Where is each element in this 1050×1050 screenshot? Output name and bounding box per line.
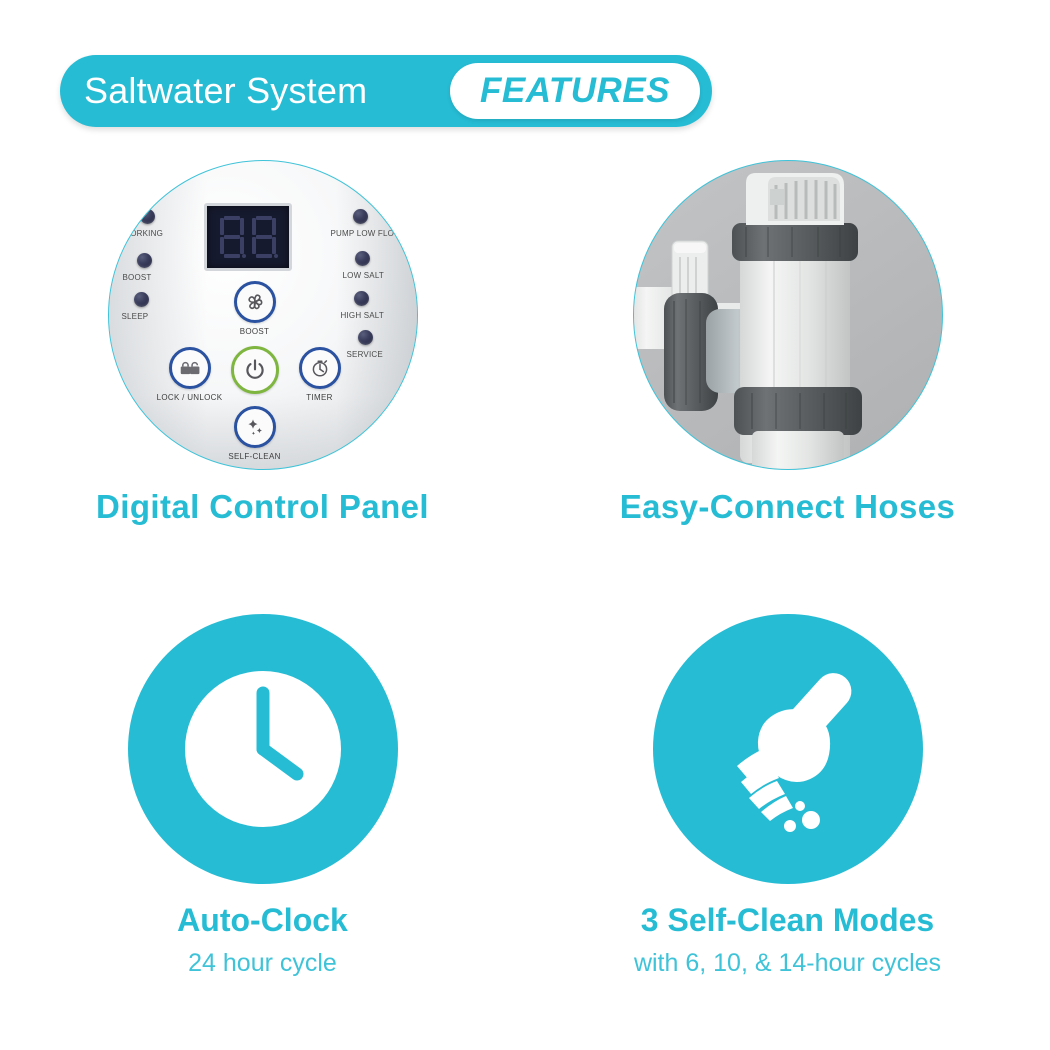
rear-vent-cap bbox=[672, 241, 708, 299]
led-label-working: WORKING bbox=[123, 229, 164, 238]
padlock-icon bbox=[177, 358, 203, 378]
led-label-boost: BOOST bbox=[123, 273, 152, 282]
auto-clock-icon-circle bbox=[128, 614, 398, 884]
feature-digital-control-panel: WORKING BOOST SLEEP PUMP LOW FLOW LOW SA… bbox=[0, 160, 525, 526]
lcd-digit-2 bbox=[251, 216, 277, 258]
bottom-outlet-pipe bbox=[752, 431, 844, 470]
led-high-salt bbox=[354, 291, 369, 306]
hose-connector-photo bbox=[633, 160, 943, 470]
led-pump-low-flow bbox=[353, 209, 368, 224]
led-boost bbox=[137, 253, 152, 268]
feature-row-top: WORKING BOOST SLEEP PUMP LOW FLOW LOW SA… bbox=[0, 160, 1050, 526]
led-service bbox=[358, 330, 373, 345]
led-working bbox=[140, 209, 155, 224]
feature-grid: WORKING BOOST SLEEP PUMP LOW FLOW LOW SA… bbox=[0, 160, 1050, 978]
stopwatch-icon bbox=[308, 356, 332, 380]
lock-unlock-button[interactable] bbox=[169, 347, 211, 389]
led-label-pump-low-flow: PUMP LOW FLOW bbox=[331, 229, 402, 238]
led-sleep bbox=[134, 292, 149, 307]
upper-threaded-collar bbox=[732, 223, 858, 261]
led-label-high-salt: HIGH SALT bbox=[341, 311, 384, 320]
swirl-icon bbox=[243, 290, 267, 314]
control-panel-photo: WORKING BOOST SLEEP PUMP LOW FLOW LOW SA… bbox=[108, 160, 418, 470]
control-panel-media: WORKING BOOST SLEEP PUMP LOW FLOW LOW SA… bbox=[108, 160, 418, 470]
led-label-service: SERVICE bbox=[347, 350, 383, 359]
lcd-display bbox=[204, 203, 292, 271]
boost-button-label: BOOST bbox=[234, 327, 276, 336]
features-badge-label: FEATURES bbox=[480, 71, 670, 111]
lcd-digit-1 bbox=[219, 216, 245, 258]
slotted-strainer-cap bbox=[746, 173, 844, 225]
hose-connector-illustration bbox=[634, 161, 943, 470]
hose-media bbox=[633, 160, 943, 470]
timer-button-label: TIMER bbox=[295, 393, 345, 402]
lock-unlock-button-label: LOCK / UNLOCK bbox=[139, 393, 241, 402]
feature-title-self-clean-modes: 3 Self-Clean Modes bbox=[641, 902, 934, 939]
broom-icon bbox=[693, 654, 883, 844]
feature-easy-connect-hoses: Easy-Connect Hoses bbox=[525, 160, 1050, 526]
page-title: Saltwater System bbox=[84, 70, 367, 112]
feature-row-bottom: Auto-Clock 24 hour cycle bbox=[0, 596, 1050, 978]
clock-icon bbox=[168, 654, 358, 844]
lower-threaded-collar bbox=[734, 387, 862, 435]
feature-self-clean-modes: 3 Self-Clean Modes with 6, 10, & 14-hour… bbox=[525, 596, 1050, 978]
power-button[interactable] bbox=[231, 346, 279, 394]
led-label-sleep: SLEEP bbox=[122, 312, 149, 321]
led-low-salt bbox=[355, 251, 370, 266]
power-icon bbox=[242, 357, 268, 383]
led-label-low-salt: LOW SALT bbox=[343, 271, 384, 280]
self-clean-button-label: SELF-CLEAN bbox=[221, 452, 289, 461]
self-clean-icon-circle bbox=[653, 614, 923, 884]
self-clean-button[interactable] bbox=[234, 406, 276, 448]
feature-title-easy-connect-hoses: Easy-Connect Hoses bbox=[620, 488, 955, 526]
timer-button[interactable] bbox=[299, 347, 341, 389]
boost-button[interactable] bbox=[234, 281, 276, 323]
sparkle-icon bbox=[243, 415, 267, 439]
feature-title-auto-clock: Auto-Clock bbox=[177, 902, 348, 939]
feature-subtitle-auto-clock: 24 hour cycle bbox=[188, 949, 337, 978]
feature-auto-clock: Auto-Clock 24 hour cycle bbox=[0, 596, 525, 978]
feature-title-digital-control-panel: Digital Control Panel bbox=[96, 488, 429, 526]
features-badge: FEATURES bbox=[450, 63, 700, 119]
feature-subtitle-self-clean-modes: with 6, 10, & 14-hour cycles bbox=[634, 949, 941, 978]
